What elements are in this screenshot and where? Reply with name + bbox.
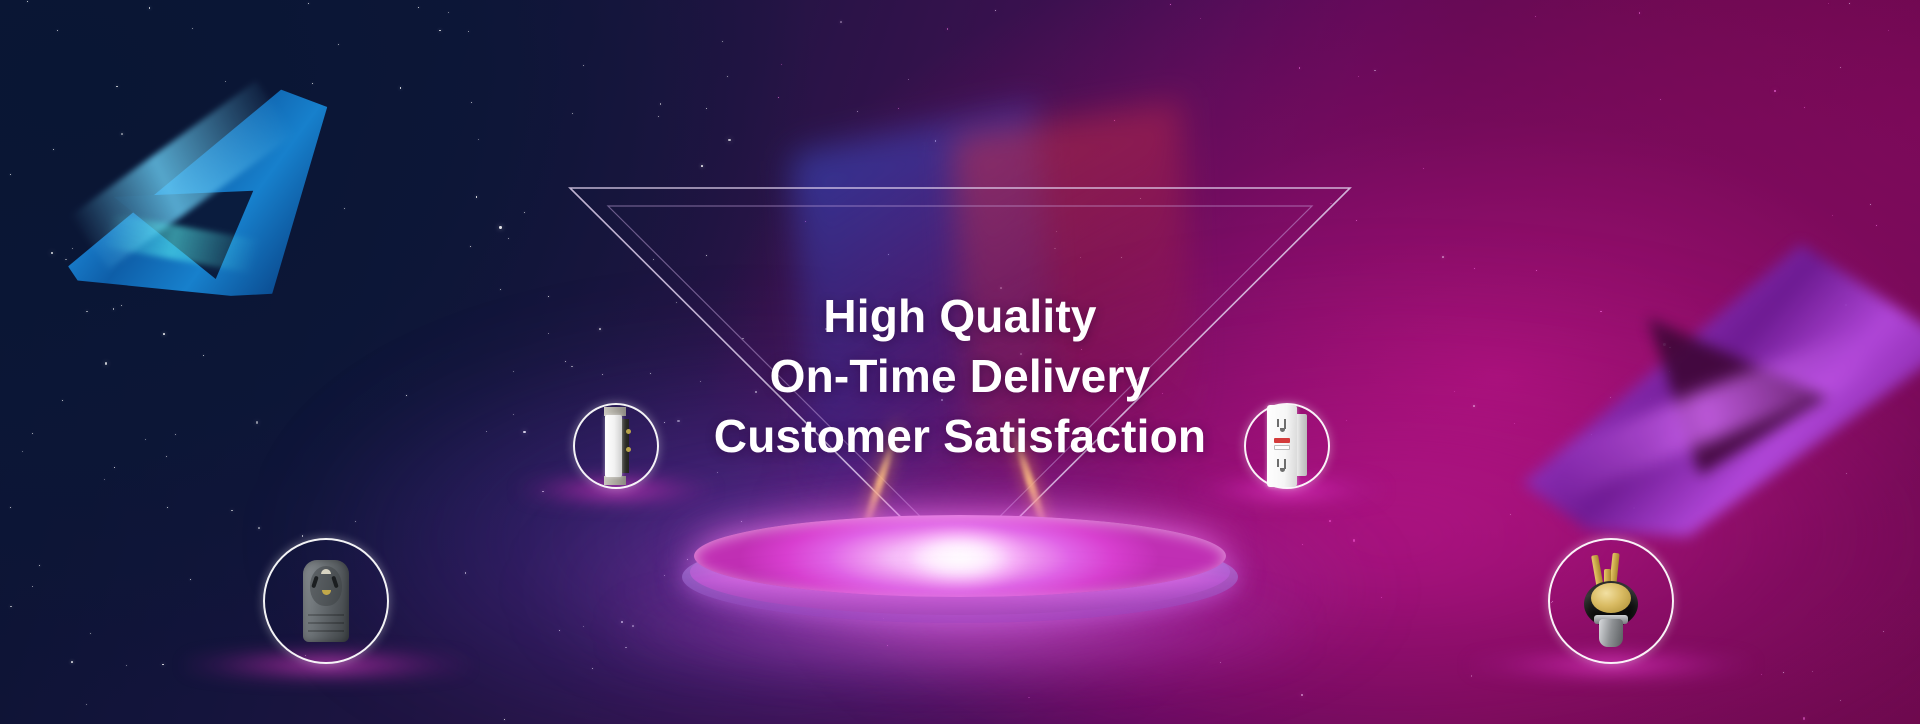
podium-core-glow — [896, 529, 1024, 587]
product-circle-light-switch[interactable] — [573, 403, 659, 489]
headline-line-2: On-Time Delivery — [0, 346, 1920, 406]
product-circle-industrial-plug[interactable] — [1548, 538, 1674, 664]
headline-line-1: High Quality — [0, 286, 1920, 346]
hero-banner: High Quality On-Time Delivery Customer S… — [0, 0, 1920, 724]
product-circle-gfci-outlet[interactable] — [1244, 403, 1330, 489]
range-receptacle-icon — [263, 538, 389, 664]
page-title: High Quality On-Time Delivery Customer S… — [0, 286, 1920, 466]
light-switch-icon — [573, 403, 659, 489]
industrial-plug-icon — [1548, 538, 1674, 664]
podium-floor-glow — [620, 591, 1300, 671]
product-circle-range-receptacle[interactable] — [263, 538, 389, 664]
gfci-outlet-icon — [1244, 403, 1330, 489]
hologram-podium — [690, 515, 1230, 635]
headline-line-3: Customer Satisfaction — [0, 406, 1920, 466]
